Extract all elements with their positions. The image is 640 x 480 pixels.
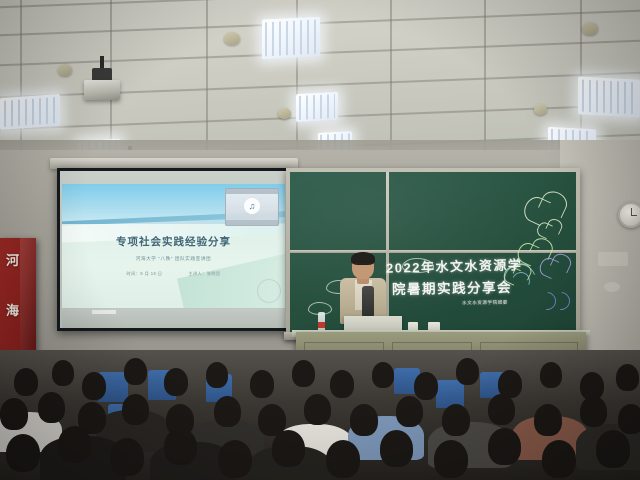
ceiling-light-fixture <box>0 94 60 130</box>
ceiling-light-fixture <box>262 16 320 59</box>
ceiling-speaker-icon <box>58 64 72 76</box>
blackboard-line-1: 2022年水文水资源学 <box>386 254 523 277</box>
audience-head <box>380 430 413 467</box>
wall-patch <box>598 252 628 266</box>
audience <box>0 350 640 480</box>
ceiling-speaker-icon <box>224 32 240 45</box>
audience-head <box>82 372 106 400</box>
audience-head <box>110 438 144 476</box>
player-top-bar <box>226 189 278 194</box>
audience-head <box>164 368 188 396</box>
slide-meta: 时间：9 月 16 日 主讲人：张明哲 <box>62 271 285 277</box>
audience-head <box>540 362 562 388</box>
lecture-hall-photo: ♫ 专项社会实践经验分享 河海大学 “八秩” 团队实践宣讲团 时间：9 月 16… <box>0 0 640 480</box>
presentation-slide: ♫ 专项社会实践经验分享 河海大学 “八秩” 团队实践宣讲团 时间：9 月 16… <box>62 184 285 308</box>
audience-head <box>58 426 91 463</box>
audience-head <box>122 394 149 425</box>
player-bottom-bar <box>226 220 278 225</box>
audience-head <box>534 404 562 436</box>
audience-head <box>350 404 378 436</box>
banner-character-2: 海 <box>6 300 19 319</box>
blackboard-signature: 水文水资源学院团委 <box>462 300 508 307</box>
audience-head <box>292 360 315 387</box>
audience-head <box>488 428 521 465</box>
audience-head <box>396 396 423 427</box>
audience-head <box>304 394 331 425</box>
chalk-swirl <box>548 288 573 313</box>
banner-fold <box>20 238 36 368</box>
ceiling-projector <box>84 80 120 100</box>
audience-head <box>124 358 147 385</box>
audience-head <box>38 392 65 423</box>
chalk-heart <box>514 231 538 253</box>
audience-head <box>52 360 74 386</box>
audience-head <box>596 430 630 468</box>
audience-head <box>330 370 354 398</box>
wall-patch <box>604 282 620 292</box>
speaker-glasses <box>354 263 372 268</box>
audience-head <box>434 440 468 478</box>
audience-head <box>206 362 228 388</box>
ceiling-light-fixture <box>578 76 640 117</box>
screen-pull-tab <box>92 310 116 314</box>
slide-video-player[interactable]: ♫ <box>225 188 279 226</box>
chalk-heart <box>519 183 549 211</box>
audience-head <box>164 428 197 465</box>
audience-head <box>414 372 438 400</box>
audience-head <box>6 434 40 472</box>
slide-meta-host: 主讲人：张明哲 <box>188 271 220 277</box>
blackboard <box>290 172 576 332</box>
ceiling-speaker-icon <box>278 108 291 119</box>
audience-head <box>542 440 576 478</box>
banner-character-1: 河 <box>6 250 19 269</box>
microphone-icon <box>362 286 374 318</box>
chalk-heart <box>536 248 557 268</box>
audience-head <box>214 396 241 427</box>
chalk-heart <box>534 214 550 230</box>
blackboard-line-2: 院暑期实践分享会 <box>392 276 512 298</box>
audience-head <box>580 396 607 427</box>
audience-head <box>14 368 38 396</box>
slide-subtitle: 河海大学 “八秩” 团队实践宣讲团 <box>62 256 285 262</box>
audience-head <box>326 440 360 478</box>
audience-head <box>250 370 274 398</box>
ceiling-light-fixture <box>296 92 338 122</box>
wall-clock <box>618 202 640 228</box>
audience-head <box>272 430 305 467</box>
slide-meta-time: 时间：9 月 16 日 <box>127 271 163 277</box>
audience-head <box>616 364 639 391</box>
chalk-swirl <box>534 288 559 313</box>
ceiling-speaker-icon <box>534 104 547 115</box>
slide-title: 专项社会实践经验分享 <box>62 234 285 249</box>
audience-head <box>456 358 479 385</box>
audience-head <box>618 404 640 434</box>
audience-head <box>442 404 470 436</box>
audience-head <box>218 440 252 478</box>
audience-head <box>372 362 394 388</box>
audience-head <box>0 398 28 430</box>
ceiling-speaker-icon <box>582 22 598 35</box>
slide-logo <box>257 279 281 303</box>
audience-head <box>488 394 515 425</box>
play-icon[interactable]: ♫ <box>244 198 260 214</box>
